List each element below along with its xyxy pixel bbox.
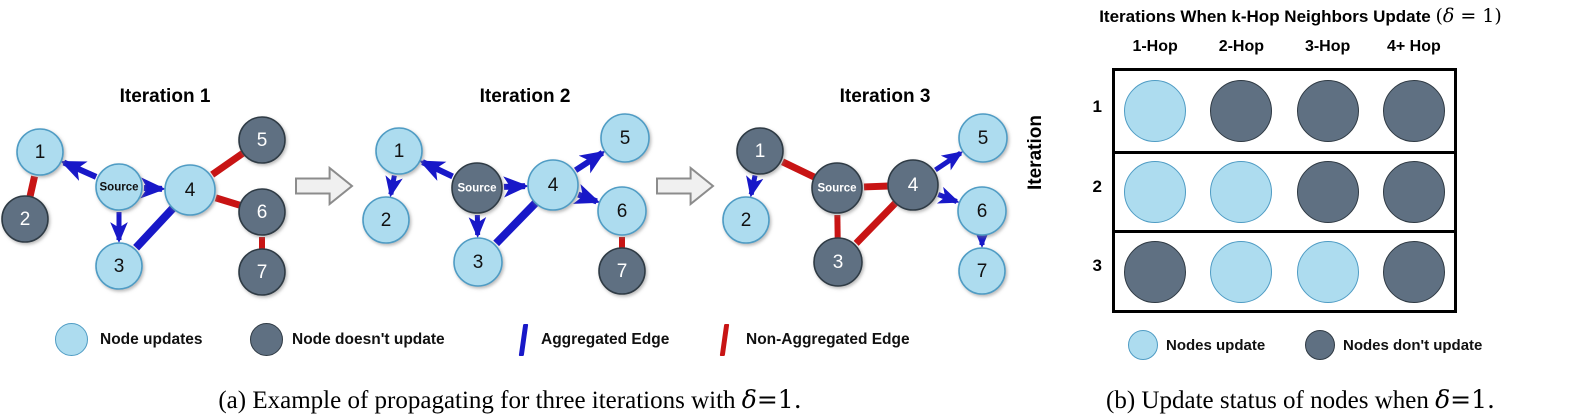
node-label: 2 [381, 210, 392, 231]
graph-edge [938, 195, 956, 202]
graph-node-2[interactable]: 2 [2, 196, 48, 242]
legend-marker-nodes-no-update [1305, 330, 1335, 360]
graph-edge [64, 163, 96, 177]
graph-edge [216, 198, 241, 206]
node-label: Source [100, 182, 139, 194]
figure-root: Iteration 1 Iteration 2 Iteration 3 12So… [0, 0, 1581, 419]
row-label-2: 2 [1068, 177, 1102, 197]
graph-node-2[interactable]: 2 [723, 197, 769, 243]
graph-edge [391, 176, 395, 195]
node-label: Source [818, 183, 857, 195]
graph-edge [783, 162, 816, 178]
graph-edge [30, 176, 35, 197]
graph-node-3[interactable]: 3 [454, 238, 502, 286]
node-label: 2 [741, 210, 752, 231]
node-label: 7 [617, 261, 628, 282]
node-label: 4 [185, 180, 196, 201]
legend-label: Nodes update [1166, 337, 1265, 354]
graph-edge [935, 153, 960, 170]
graph-edge [856, 202, 896, 243]
flow-arrow-icon [296, 168, 352, 204]
caption-b-math: δ=1. [1435, 385, 1495, 414]
node-label: 2 [20, 209, 31, 230]
graph-node-6[interactable]: 6 [239, 189, 285, 235]
node-label: 1 [35, 142, 46, 163]
node-label: 4 [548, 175, 559, 196]
node-label: 7 [977, 261, 988, 282]
status-cell-no-update[interactable] [1383, 161, 1445, 223]
node-label: 7 [257, 262, 268, 283]
legend-label: Aggregated Edge [541, 331, 669, 349]
graph-node-3[interactable]: 3 [814, 238, 862, 286]
node-label: Source [458, 183, 497, 195]
caption-a: (a) Example of propagating for three ite… [0, 385, 1020, 415]
node-label: 4 [908, 175, 919, 196]
node-label: 5 [620, 128, 631, 149]
status-grid [1112, 68, 1457, 313]
graph-node-5[interactable]: 5 [601, 114, 649, 162]
graph-node-7[interactable]: 7 [239, 249, 285, 295]
graph-edge [136, 208, 174, 248]
propagation-graphs: 12Source3456712Source3456712Source34567 [0, 0, 1020, 380]
graph-edge [144, 188, 162, 189]
y-axis-label: Iteration [1025, 115, 1047, 190]
graph-edge [496, 202, 536, 243]
graph-node-4[interactable]: 4 [528, 160, 578, 210]
panel-b-update-status: Iterations When k-Hop Neighbors Update (… [1020, 0, 1581, 419]
graph-edge [578, 195, 596, 202]
status-cell-no-update[interactable] [1383, 80, 1445, 142]
node-label: 5 [978, 128, 989, 149]
status-cell-no-update[interactable] [1124, 241, 1186, 303]
status-cell-update[interactable] [1210, 161, 1272, 223]
graph-node-1[interactable]: 1 [376, 128, 422, 174]
node-label: 1 [394, 141, 405, 162]
graph-node-source[interactable]: Source [452, 163, 502, 213]
column-header-4: 4+ Hop [1372, 38, 1456, 56]
status-cell-update[interactable] [1124, 80, 1186, 142]
node-label: 6 [617, 201, 628, 222]
status-cell-no-update[interactable] [1297, 80, 1359, 142]
graph-edge [422, 162, 452, 176]
caption-b: (b) Update status of nodes when δ=1. [1020, 385, 1581, 415]
row-label-1: 1 [1068, 97, 1102, 117]
node-label: 3 [473, 252, 484, 273]
legend-label: Nodes don't update [1343, 337, 1482, 354]
grid-title: Iterations When k-Hop Neighbors Update (… [1020, 5, 1581, 27]
graph-edge [864, 186, 889, 187]
graph-edge [212, 153, 244, 175]
row-label-3: 3 [1068, 256, 1102, 276]
graph-node-5[interactable]: 5 [959, 114, 1007, 162]
panel-a-propagation-example: Iteration 1 Iteration 2 Iteration 3 12So… [0, 0, 1020, 419]
column-header-2: 2-Hop [1199, 38, 1283, 56]
graph-node-6[interactable]: 6 [958, 187, 1006, 235]
graph-node-1[interactable]: 1 [17, 129, 63, 175]
legend-label: Non-Aggregated Edge [746, 331, 910, 349]
graph-node-5[interactable]: 5 [239, 117, 285, 163]
column-header-1: 1-Hop [1113, 38, 1197, 56]
graph-node-source[interactable]: Source [96, 164, 142, 210]
graph-node-1[interactable]: 1 [737, 128, 783, 174]
grid-title-text: Iterations When k-Hop Neighbors Update [1099, 7, 1435, 26]
status-cell-no-update[interactable] [1210, 80, 1272, 142]
graph-node-6[interactable]: 6 [598, 187, 646, 235]
graph-node-2[interactable]: 2 [363, 197, 409, 243]
column-header-3: 3-Hop [1286, 38, 1370, 56]
grid-row [1115, 230, 1454, 310]
node-label: 6 [977, 201, 988, 222]
status-cell-no-update[interactable] [1297, 161, 1359, 223]
graph-node-4[interactable]: 4 [888, 160, 938, 210]
node-label: 1 [755, 141, 766, 162]
caption-a-text: (a) Example of propagating for three ite… [218, 387, 741, 414]
graph-edge [504, 186, 525, 187]
caption-a-math: δ=1. [742, 385, 802, 414]
node-label: 6 [257, 202, 268, 223]
grid-row [1115, 71, 1454, 151]
status-cell-update[interactable] [1124, 161, 1186, 223]
graph-node-4[interactable]: 4 [165, 165, 215, 215]
legend-label: Node updates [100, 331, 202, 349]
caption-b-text: (b) Update status of nodes when [1106, 387, 1435, 414]
status-cell-update[interactable] [1297, 241, 1359, 303]
graph-edge [751, 176, 755, 195]
status-cell-no-update[interactable] [1383, 241, 1445, 303]
node-label: 5 [257, 130, 268, 151]
node-label: 3 [833, 252, 844, 273]
grid-row [1115, 151, 1454, 231]
legend-marker-node-updates [55, 323, 88, 356]
legend-marker-node-no-update [250, 323, 283, 356]
graph-node-3[interactable]: 3 [96, 243, 142, 289]
graph-node-7[interactable]: 7 [959, 248, 1005, 294]
flow-arrow-icon [657, 168, 713, 204]
graph-node-7[interactable]: 7 [599, 248, 645, 294]
graph-node-source[interactable]: Source [812, 163, 862, 213]
grid-title-math: (δ = 1) [1435, 5, 1501, 27]
legend-label: Node doesn't update [292, 331, 445, 349]
legend-marker-nodes-update [1128, 330, 1158, 360]
node-label: 3 [114, 256, 125, 277]
graph-edge [576, 153, 603, 170]
status-cell-update[interactable] [1210, 241, 1272, 303]
